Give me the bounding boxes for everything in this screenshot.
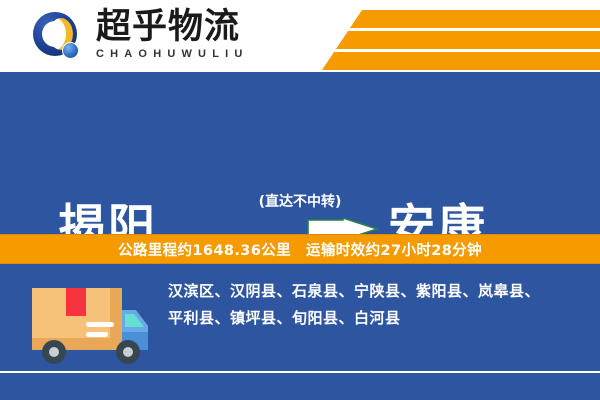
route-info-bar: 公路里程约1648.36公里 运输时效约27小时28分钟 (0, 234, 600, 264)
coverage-districts: 汉滨区、汉阴县、石泉县、宁陕县、紫阳县、岚皋县、 平利县、镇坪县、旬阳县、白河县 (168, 278, 580, 332)
route-hero: 揭阳 (直达不中转) 【往返运输】 安康 (0, 72, 600, 234)
chaohu-circle-logo-icon (33, 12, 85, 64)
route-info-text: 公路里程约1648.36公里 运输时效约27小时28分钟 (118, 239, 482, 260)
districts-line-2: 平利县、镇坪县、旬阳县、白河县 (168, 305, 580, 332)
delivery-truck-icon (24, 276, 154, 372)
brand-name-cn: 超乎物流 (96, 8, 286, 46)
coverage-section: 汉滨区、汉阴县、石泉县、宁陕县、紫阳县、岚皋县、 平利县、镇坪县、旬阳县、白河县 (0, 264, 600, 400)
brand-name-en: CHAOHUWULIU (96, 47, 286, 61)
logo-dot (62, 42, 79, 59)
decorative-stripes (290, 8, 600, 70)
banner-header: 超乎物流 CHAOHUWULIU (0, 0, 600, 72)
districts-line-1: 汉滨区、汉阴县、石泉县、宁陕县、紫阳县、岚皋县、 (168, 278, 580, 305)
bottom-divider (0, 371, 600, 373)
logistics-route-banner: 超乎物流 CHAOHUWULIU 揭阳 (直达不中转) 【往返运输】 安康 公路… (0, 0, 600, 400)
brand-block: 超乎物流 CHAOHUWULIU (96, 8, 286, 61)
route-note-label: (直达不中转) (205, 191, 395, 211)
